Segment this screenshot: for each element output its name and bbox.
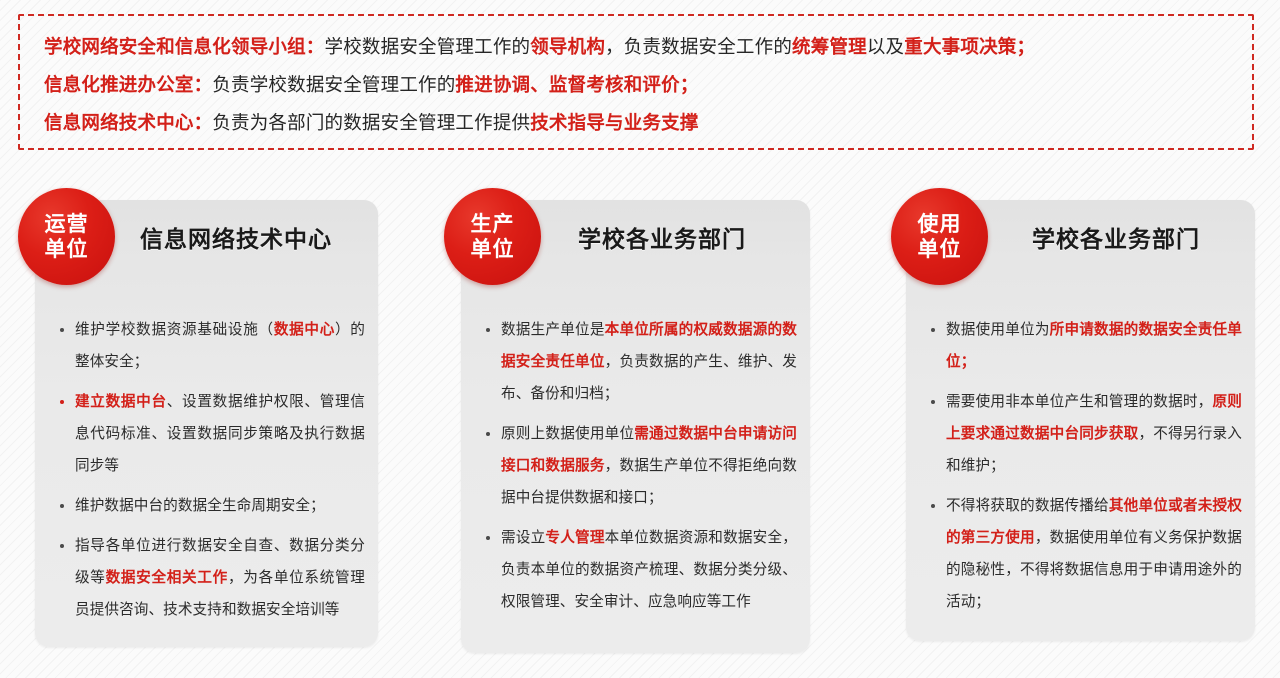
bullet-item: 建立数据中台、设置数据维护权限、管理信息代码标准、设置数据同步策略及执行数据同步… bbox=[55, 386, 365, 482]
bullet-list-production: 数据生产单位是本单位所属的权威数据源的数据安全责任单位，负责数据的产生、维护、发… bbox=[481, 314, 797, 618]
plain-text: ，负责数据安全工作的 bbox=[605, 36, 792, 57]
banner-line-lead: 学校网络安全和信息化领导小组： bbox=[44, 36, 325, 57]
banner-line-list: 学校网络安全和信息化领导小组：学校数据安全管理工作的领导机构，负责数据安全工作的… bbox=[44, 28, 1232, 142]
plain-text: 原则上数据使用单位 bbox=[501, 426, 634, 442]
highlight-text: 重大事项决策； bbox=[904, 36, 1035, 57]
plain-text: 需设立 bbox=[501, 530, 545, 546]
role-badge-usage: 使用 单位 bbox=[891, 188, 988, 285]
highlight-text: 统筹管理 bbox=[792, 36, 867, 57]
banner-line: 信息化推进办公室：负责学校数据安全管理工作的推进协调、监督考核和评价； bbox=[44, 66, 1232, 104]
responsibilities-banner: 学校网络安全和信息化领导小组：学校数据安全管理工作的领导机构，负责数据安全工作的… bbox=[18, 14, 1254, 150]
plain-text: 负责为各部门的数据安全管理工作提供 bbox=[212, 112, 530, 133]
role-card-title-usage: 学校各业务部门 bbox=[1032, 220, 1200, 254]
role-badge-production: 生产 单位 bbox=[444, 188, 541, 285]
role-badge-operations: 运营 单位 bbox=[18, 188, 115, 285]
bullet-item: 维护学校数据资源基础设施（数据中心）的整体安全； bbox=[55, 314, 365, 378]
role-card-body-operations: 维护学校数据资源基础设施（数据中心）的整体安全；建立数据中台、设置数据维护权限、… bbox=[55, 314, 365, 634]
bullet-list-usage: 数据使用单位为所申请数据的数据安全责任单位；需要使用非本单位产生和管理的数据时，… bbox=[926, 314, 1242, 618]
bullet-item: 不得将获取的数据传播给其他单位或者未授权的第三方使用，数据使用单位有义务保护数据… bbox=[926, 490, 1242, 618]
role-badge-line1: 使用 bbox=[918, 212, 962, 237]
role-card-title-production: 学校各业务部门 bbox=[578, 220, 746, 254]
plain-text: 数据使用单位为 bbox=[946, 322, 1050, 338]
role-badge-line2: 单位 bbox=[45, 237, 89, 262]
role-badge-line2: 单位 bbox=[471, 237, 515, 262]
bullet-item: 数据使用单位为所申请数据的数据安全责任单位； bbox=[926, 314, 1242, 378]
banner-line: 信息网络技术中心：负责为各部门的数据安全管理工作提供技术指导与业务支撑 bbox=[44, 104, 1232, 142]
bullet-list-operations: 维护学校数据资源基础设施（数据中心）的整体安全；建立数据中台、设置数据维护权限、… bbox=[55, 314, 365, 626]
bullet-item: 需设立专人管理本单位数据资源和数据安全，负责本单位的数据资产梳理、数据分类分级、… bbox=[481, 522, 797, 618]
bullet-item: 需要使用非本单位产生和管理的数据时，原则上要求通过数据中台同步获取，不得另行录入… bbox=[926, 386, 1242, 482]
plain-text: 维护学校数据资源基础设施（ bbox=[75, 322, 274, 338]
bullet-item: 指导各单位进行数据安全自查、数据分类分级等数据安全相关工作，为各单位系统管理员提… bbox=[55, 530, 365, 626]
role-cards-row: 运营 单位 信息网络技术中心 维护学校数据资源基础设施（数据中心）的整体安全；建… bbox=[0, 192, 1280, 662]
plain-text: 负责学校数据安全管理工作的 bbox=[212, 74, 455, 95]
plain-text: 数据生产单位是 bbox=[501, 322, 605, 338]
highlight-text: 技术指导与业务支撑 bbox=[530, 112, 698, 133]
bullet-item: 原则上数据使用单位需通过数据中台申请访问接口和数据服务，数据生产单位不得拒绝向数… bbox=[481, 418, 797, 514]
role-badge-line1: 运营 bbox=[45, 212, 89, 237]
plain-text: 学校数据安全管理工作的 bbox=[325, 36, 531, 57]
banner-line-lead: 信息网络技术中心： bbox=[44, 112, 212, 133]
bullet-item: 数据生产单位是本单位所属的权威数据源的数据安全责任单位，负责数据的产生、维护、发… bbox=[481, 314, 797, 410]
plain-text: 不得将获取的数据传播给 bbox=[946, 498, 1109, 514]
role-card-title-operations: 信息网络技术中心 bbox=[140, 220, 332, 254]
highlight-text: 数据安全相关工作 bbox=[106, 570, 228, 586]
highlight-text: 推进协调、监督考核和评价； bbox=[455, 74, 698, 95]
role-card-body-production: 数据生产单位是本单位所属的权威数据源的数据安全责任单位，负责数据的产生、维护、发… bbox=[481, 314, 797, 626]
banner-line: 学校网络安全和信息化领导小组：学校数据安全管理工作的领导机构，负责数据安全工作的… bbox=[44, 28, 1232, 66]
role-badge-line2: 单位 bbox=[918, 237, 962, 262]
highlight-text: 建立数据中台 bbox=[75, 394, 167, 410]
plain-text: 以及 bbox=[867, 36, 904, 57]
bullet-item: 维护数据中台的数据全生命周期安全； bbox=[55, 490, 365, 522]
highlight-text: 专人管理 bbox=[545, 530, 604, 546]
banner-line-lead: 信息化推进办公室： bbox=[44, 74, 212, 95]
role-card-body-usage: 数据使用单位为所申请数据的数据安全责任单位；需要使用非本单位产生和管理的数据时，… bbox=[926, 314, 1242, 626]
highlight-text: 领导机构 bbox=[530, 36, 605, 57]
plain-text: 维护数据中台的数据全生命周期安全； bbox=[75, 498, 325, 514]
role-badge-line1: 生产 bbox=[471, 212, 515, 237]
plain-text: 需要使用非本单位产生和管理的数据时， bbox=[946, 394, 1213, 410]
highlight-text: 数据中心 bbox=[274, 322, 335, 338]
